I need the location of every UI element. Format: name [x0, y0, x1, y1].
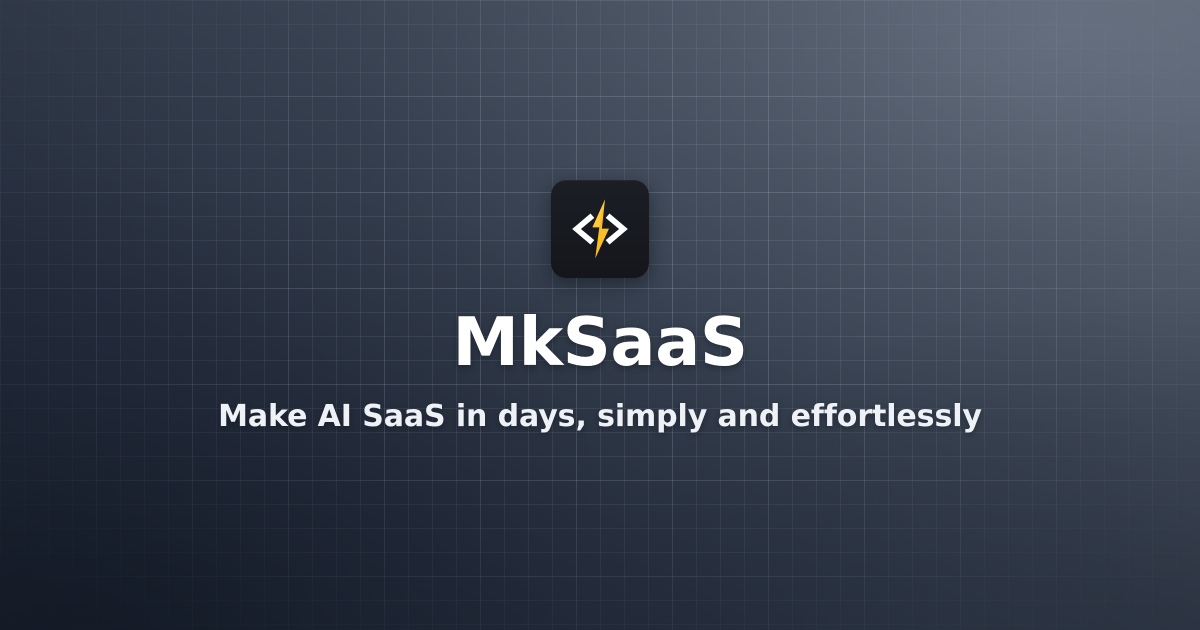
code-brackets-lightning-bolt-logo-icon: [551, 180, 649, 278]
card-content: MkSaaS Make AI SaaS in days, simply and …: [0, 0, 1200, 630]
og-share-card: MkSaaS Make AI SaaS in days, simply and …: [0, 0, 1200, 630]
page-title: MkSaaS: [452, 308, 747, 378]
tagline: Make AI SaaS in days, simply and effortl…: [218, 398, 982, 436]
